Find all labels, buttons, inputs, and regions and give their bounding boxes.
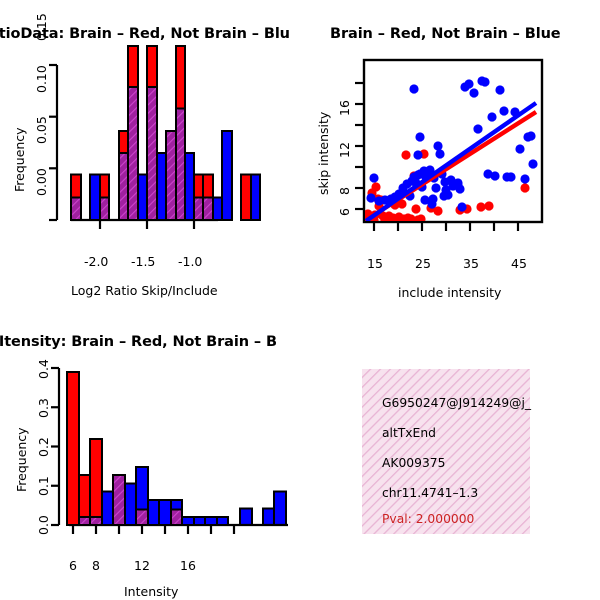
scatter-xaxis-ticks (374, 222, 518, 231)
figure-canvas: RatioData: Brain – Red, Not Brain – Blu … (0, 0, 600, 600)
scatter-xtick-45: 45 (511, 256, 527, 271)
ratio-histogram-ytick-0: 0.00 (34, 168, 49, 196)
infobox-line-3: chr11.4741–1.3 (382, 486, 478, 500)
intensity-histogram-ytick-0: 0.0 (36, 515, 51, 535)
ratio-histogram-ytick-3: 0.15 (34, 13, 49, 41)
scatter-yaxis-ticks (355, 83, 364, 209)
scatter-ytick-8: 8 (337, 187, 352, 195)
intensity-histogram-ytick-1: 0.1 (36, 476, 51, 496)
intensity-histogram-yaxis (51, 368, 59, 525)
infobox-background (300, 310, 600, 600)
intensity-histogram-xtick-12: 12 (134, 558, 150, 573)
ratio-histogram-xaxis (71, 220, 218, 229)
scatter-xtick-25: 25 (415, 256, 431, 271)
intensity-histogram-ytick-3: 0.3 (36, 398, 51, 418)
panel-ratio-histogram: RatioData: Brain – Red, Not Brain – Blu … (0, 0, 300, 310)
scatter-xtick-15: 15 (367, 256, 383, 271)
ratio-histogram-xtick-1: -1.5 (131, 254, 155, 269)
ratio-histogram-yaxis (49, 65, 57, 220)
panel-intensity-histogram: ne Itensity: Brain – Red, Not Brain – B … (0, 310, 300, 600)
ratio-histogram-xtick-0: -2.0 (84, 254, 108, 269)
infobox-line-2: AK009375 (382, 456, 445, 470)
intensity-histogram-title: ne Itensity: Brain – Red, Not Brain – B (0, 334, 277, 350)
scatter-ytick-12: 12 (337, 142, 352, 158)
intensity-histogram-ytick-4: 0.4 (36, 359, 51, 379)
intensity-histogram-xtick-8: 8 (92, 558, 100, 573)
ratio-histogram-ytick-2: 0.10 (34, 65, 49, 93)
intensity-histogram-xtick-6: 6 (69, 558, 77, 573)
infobox-line-0: G6950247@J914249@j_ (382, 396, 531, 410)
panel-infobox: G6950247@J914249@j_ altTxEnd AK009375 ch… (300, 310, 600, 600)
infobox-panel (362, 369, 530, 534)
infobox-pval: Pval: 2.000000 (382, 512, 474, 526)
intensity-histogram-xaxis-ext (230, 525, 288, 534)
intensity-histogram-xaxis (69, 525, 230, 534)
intensity-histogram-bars (67, 372, 286, 525)
ratio-histogram-ytick-1: 0.05 (34, 116, 49, 144)
intensity-histogram-plot (0, 350, 300, 590)
scatter-ytick-16: 16 (337, 100, 352, 116)
intensity-histogram-xtick-16: 16 (180, 558, 196, 573)
scatter-xtick-35: 35 (463, 256, 479, 271)
scatter-ytick-6: 6 (337, 208, 352, 216)
infobox-line-1: altTxEnd (382, 426, 436, 440)
ratio-histogram-xtick-2: -1.0 (178, 254, 202, 269)
scatter-plot (300, 40, 600, 310)
ratio-histogram-extra-bar (222, 131, 232, 220)
panel-scatter: Brain – Red, Not Brain – Blue skip inten… (300, 0, 600, 310)
intensity-histogram-ytick-2: 0.2 (36, 437, 51, 457)
